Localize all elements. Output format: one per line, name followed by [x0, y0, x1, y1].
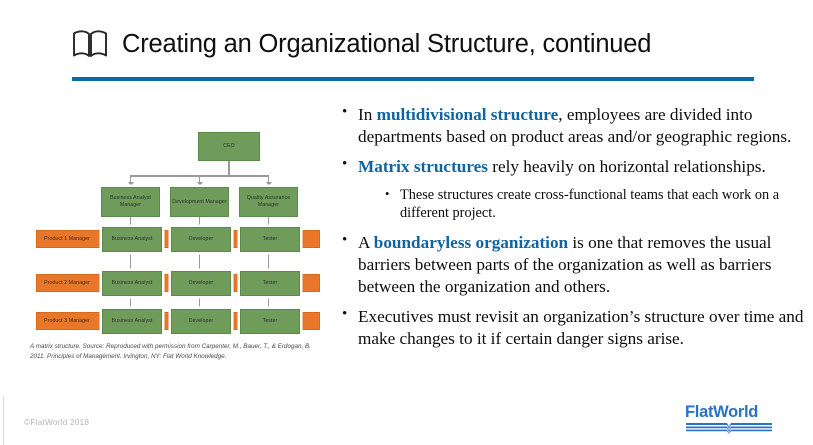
- bullet-key-term: multidivisional structure: [377, 105, 559, 124]
- bullet-text: A: [358, 233, 374, 252]
- bullet-item: A boundaryless organization is one that …: [340, 232, 810, 297]
- title-underline-rule: [72, 77, 754, 81]
- bullet-text: These structures create cross-functional…: [400, 187, 779, 221]
- footer-left-edge-divider: [3, 396, 4, 445]
- flatworld-logo-text: FlatWorld: [685, 404, 783, 421]
- slide-canvas: Creating an Organizational Structure, co…: [0, 0, 813, 445]
- matrix-cell-1-2: Developer: [171, 227, 231, 252]
- matrix-cell-1-3: Tester: [240, 227, 300, 252]
- matrix-cell-1-1: Business Analyst: [102, 227, 162, 252]
- matrix-cell-2-1: Business Analyst: [102, 271, 162, 296]
- matrix-cell-2-2: Developer: [171, 271, 231, 296]
- org-chart-connector: [228, 161, 230, 175]
- open-book-icon: [72, 29, 108, 59]
- slide-title-bar: Creating an Organizational Structure, co…: [72, 18, 772, 70]
- matrix-row-label-1: Product 1 Manager: [36, 230, 98, 248]
- bullet-text: In: [358, 105, 377, 124]
- bullet-text: Executives must revisit an organization’…: [358, 307, 803, 348]
- bullet-list: In multidivisional structure, employees …: [340, 104, 810, 359]
- matrix-row-label-2: Product 2 Manager: [36, 274, 98, 292]
- bullet-text: rely heavily on horizontal relationships…: [488, 157, 766, 176]
- org-chart-arrowhead: [128, 182, 134, 186]
- matrix-cell-2-3: Tester: [240, 271, 300, 296]
- matrix-row-label-3: Product 3 Manager: [36, 312, 98, 330]
- org-chart: CEOBusiness Analyst ManagerDevelopment M…: [28, 122, 328, 337]
- org-chart-arrowhead: [266, 182, 272, 186]
- matrix-cell-3-2: Developer: [171, 309, 231, 334]
- bullet-item: These structures create cross-functional…: [384, 187, 810, 222]
- page-title: Creating an Organizational Structure, co…: [122, 30, 651, 59]
- org-node-manager-1: Business Analyst Manager: [101, 187, 160, 217]
- flatworld-open-book-icon: [685, 421, 773, 438]
- matrix-cell-3-1: Business Analyst: [102, 309, 162, 334]
- org-chart-arrowhead: [197, 182, 203, 186]
- matrix-cell-3-3: Tester: [240, 309, 300, 334]
- bullet-item: In multidivisional structure, employees …: [340, 104, 810, 147]
- org-node-ceo: CEO: [198, 132, 260, 161]
- matrix-structure-figure: CEOBusiness Analyst ManagerDevelopment M…: [28, 122, 328, 372]
- bullet-key-term: boundaryless organization: [374, 233, 568, 252]
- figure-caption: A matrix structure. Source: Reproduced w…: [30, 342, 322, 362]
- org-node-manager-3: Quality Assurance Manager: [239, 187, 298, 217]
- bullet-key-term: Matrix structures: [358, 157, 488, 176]
- bullet-item: Executives must revisit an organization’…: [340, 306, 810, 349]
- bullet-item: Matrix structures rely heavily on horizo…: [340, 156, 810, 178]
- org-node-manager-2: Development Manager: [170, 187, 229, 217]
- flatworld-logo: FlatWorld: [685, 404, 783, 438]
- copyright-notice: ©FlatWorld 2018: [24, 417, 89, 427]
